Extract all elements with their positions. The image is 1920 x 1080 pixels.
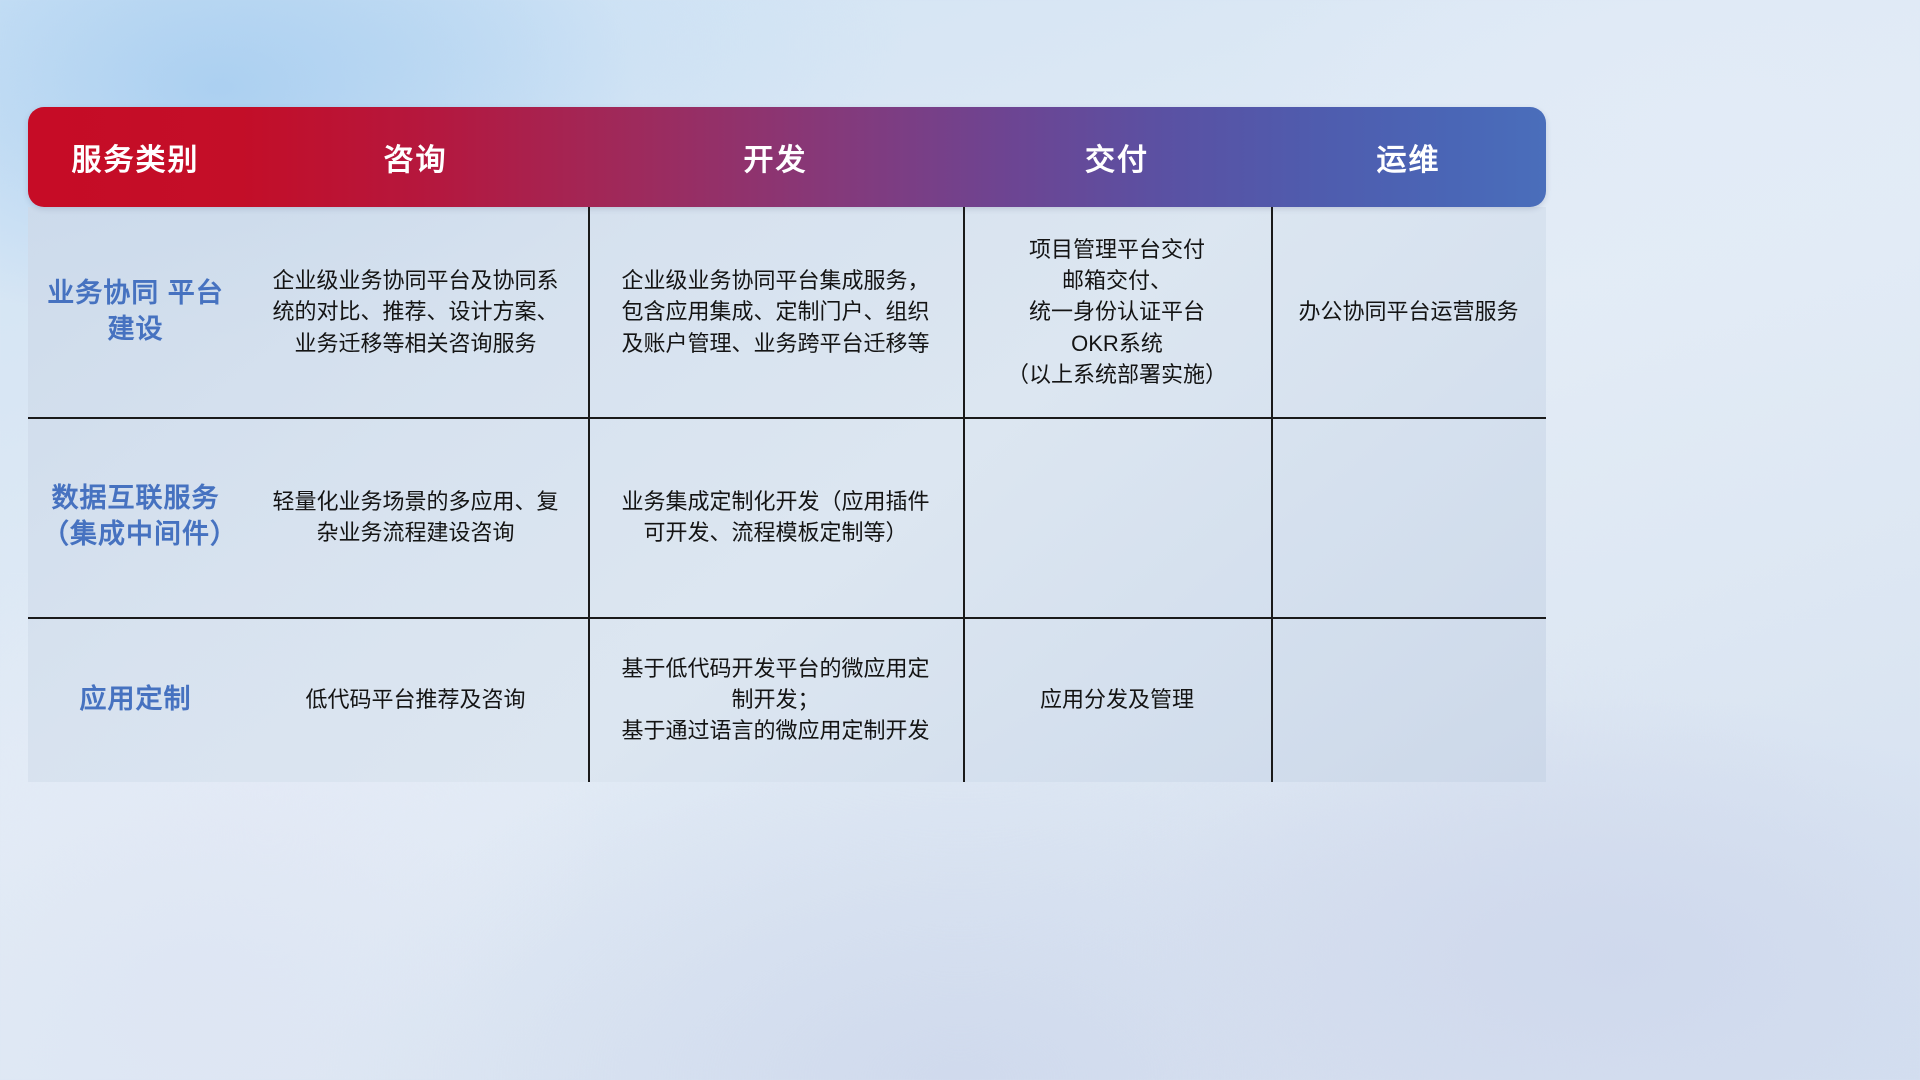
cell-text-line: 统的对比、推荐、设计方案、: [272, 296, 558, 327]
category-line-1: 业务协同: [47, 278, 159, 308]
cell-text-line: （以上系统部署实施）: [1007, 359, 1227, 390]
cell-consulting: 轻量化业务场景的多应用、复 杂业务流程建设咨询: [243, 417, 588, 617]
row-category-label: 业务协同 平台建设: [28, 207, 243, 417]
cell-text-line: 业务集成定制化开发（应用插件: [621, 486, 929, 517]
cell-text-line: 企业级业务协同平台及协同系: [272, 265, 558, 296]
cell-text-line: 基于低代码开发平台的微应用定: [621, 653, 929, 684]
column-header-delivery: 交付: [963, 135, 1271, 179]
cell-text-line: 业务迁移等相关咨询服务: [272, 328, 558, 359]
cell-text-line: 统一身份认证平台: [1007, 296, 1227, 327]
cell-development: 基于低代码开发平台的微应用定 制开发； 基于通过语言的微应用定制开发: [588, 617, 963, 782]
cell-text-line: 杂业务流程建设咨询: [272, 517, 558, 548]
cell-text-line: 办公协同平台运营服务: [1298, 296, 1518, 327]
cell-delivery: 项目管理平台交付 邮箱交付、 统一身份认证平台 OKR系统 （以上系统部署实施）: [963, 207, 1271, 417]
cell-text-line: 企业级业务协同平台集成服务，: [621, 265, 929, 296]
cell-text-line: 包含应用集成、定制门户、组织: [621, 296, 929, 327]
cell-text-line: 制开发；: [621, 684, 929, 715]
column-header-consulting: 咨询: [243, 135, 588, 179]
row-category-label: 数据互联服务 （集成中间件）: [28, 417, 243, 617]
cell-text-line: 低代码平台推荐及咨询: [305, 684, 525, 715]
service-matrix-table: 服务类别 咨询 开发 交付 运维 业务协同 平台建设 企业级业务协同平台及协同系…: [28, 107, 1546, 782]
table-row: 业务协同 平台建设 企业级业务协同平台及协同系 统的对比、推荐、设计方案、 业务…: [28, 207, 1546, 417]
category-line-1: 数据互联服务: [52, 483, 220, 513]
cell-text-line: OKR系统: [1007, 328, 1227, 359]
table-row: 应用定制 低代码平台推荐及咨询 基于低代码开发平台的微应用定 制开发； 基于通过…: [28, 617, 1546, 782]
cell-development: 企业级业务协同平台集成服务， 包含应用集成、定制门户、组织 及账户管理、业务跨平…: [588, 207, 963, 417]
category-line-2: （集成中间件）: [42, 519, 238, 549]
column-header-development: 开发: [588, 135, 963, 179]
table-header-row: 服务类别 咨询 开发 交付 运维: [28, 107, 1546, 207]
cell-delivery: 应用分发及管理: [963, 617, 1271, 782]
cell-text-line: 轻量化业务场景的多应用、复: [272, 486, 558, 517]
cell-text-line: 邮箱交付、: [1007, 265, 1227, 296]
cell-operations: [1271, 417, 1546, 617]
table-rows: 业务协同 平台建设 企业级业务协同平台及协同系 统的对比、推荐、设计方案、 业务…: [28, 207, 1546, 782]
background-tint-bottom-left: [0, 740, 540, 1080]
cell-operations: [1271, 617, 1546, 782]
cell-delivery: [963, 417, 1271, 617]
cell-consulting: 低代码平台推荐及咨询: [243, 617, 588, 782]
category-line-1: 应用定制: [80, 684, 192, 714]
column-header-service-category: 服务类别: [28, 135, 243, 179]
cell-operations: 办公协同平台运营服务: [1271, 207, 1546, 417]
cell-text-line: 项目管理平台交付: [1007, 234, 1227, 265]
row-category-label: 应用定制: [28, 617, 243, 782]
table-row: 数据互联服务 （集成中间件） 轻量化业务场景的多应用、复 杂业务流程建设咨询 业…: [28, 417, 1546, 617]
cell-text-line: 应用分发及管理: [1040, 684, 1194, 715]
cell-development: 业务集成定制化开发（应用插件 可开发、流程模板定制等）: [588, 417, 963, 617]
cell-text-line: 及账户管理、业务跨平台迁移等: [621, 328, 929, 359]
cell-text-line: 基于通过语言的微应用定制开发: [621, 715, 929, 746]
cell-consulting: 企业级业务协同平台及协同系 统的对比、推荐、设计方案、 业务迁移等相关咨询服务: [243, 207, 588, 417]
cell-text-line: 可开发、流程模板定制等）: [621, 517, 929, 548]
column-header-operations: 运维: [1271, 135, 1546, 179]
